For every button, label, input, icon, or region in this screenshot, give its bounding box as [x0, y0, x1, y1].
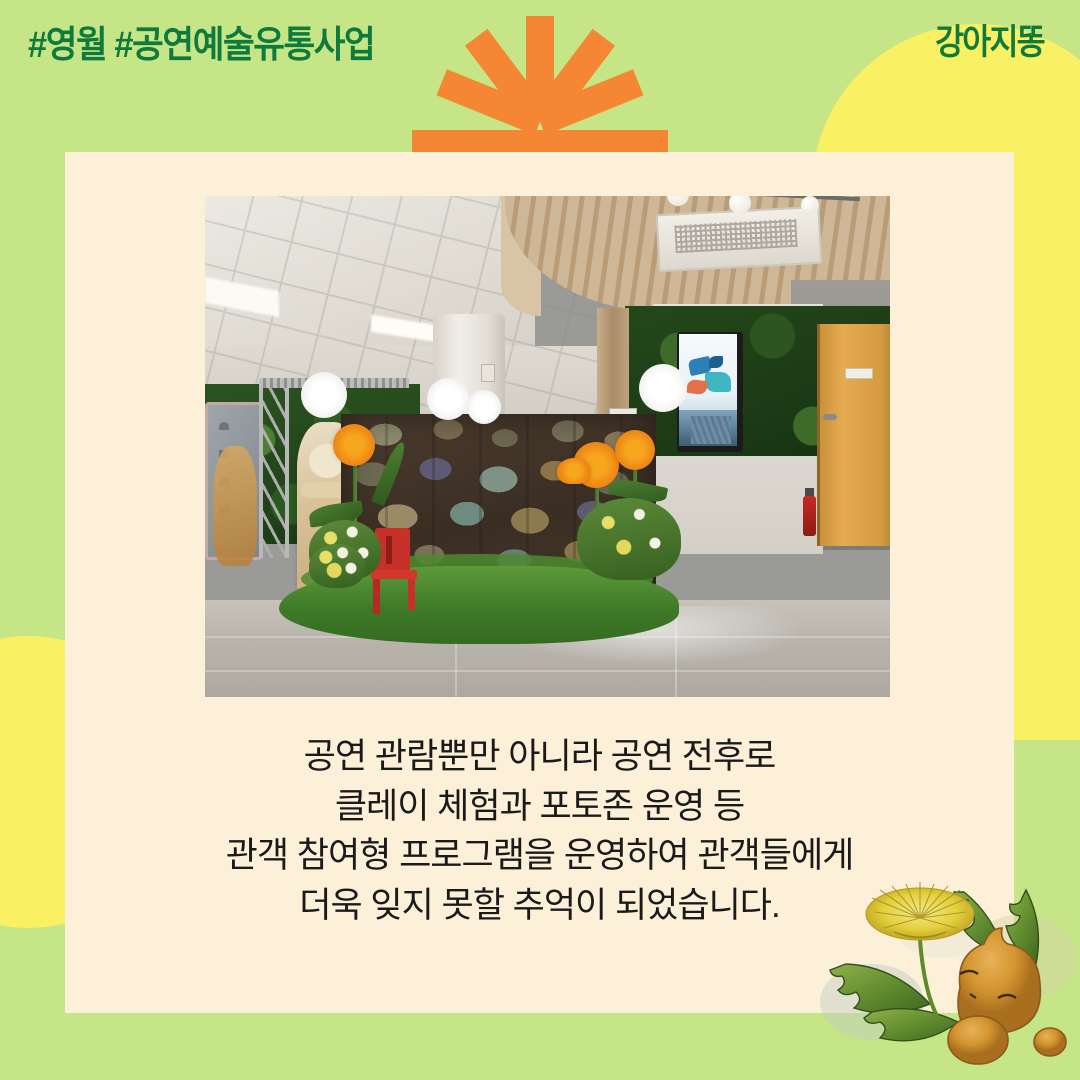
- dandelion-puff-4: [639, 364, 687, 412]
- floor-seam-2: [205, 670, 890, 672]
- dandelion-puff-1: [301, 372, 347, 418]
- caption-line-2: 클레이 체험과 포토존 운영 등: [65, 782, 1014, 832]
- pendant-bulb-3: [801, 196, 819, 214]
- brand-logo-text: 강아지똥: [935, 14, 1044, 65]
- marigold-flower-4: [557, 458, 591, 484]
- chair-leg-left: [373, 578, 380, 614]
- dandelion-puff-3: [467, 390, 501, 424]
- marigold-flower-1: [333, 424, 375, 466]
- page-hashtags: #영월 #공연예술유통사업: [28, 14, 374, 68]
- photo-image: [205, 196, 890, 697]
- signage-railway: [691, 416, 731, 444]
- signage-shape-4: [709, 356, 723, 368]
- wall-switch: [481, 364, 495, 382]
- marigold-flower-3: [615, 430, 655, 470]
- sleeping-character-with-dandelion-illustration: [812, 862, 1080, 1080]
- chair-leg-right: [408, 578, 415, 610]
- flower-bouquet-truss: [309, 544, 365, 588]
- chair-back-slot: [386, 536, 392, 564]
- signage-shape-2: [705, 372, 731, 392]
- digital-signage: [677, 332, 743, 452]
- lighting-truss: [259, 382, 289, 558]
- card-news-stage: #영월 #공연예술유통사업 강아지똥: [0, 0, 1080, 1080]
- fire-extinguisher: [803, 496, 816, 536]
- dandelion-puff-2: [427, 378, 469, 420]
- red-chair: [371, 570, 417, 579]
- signage-shape-3: [686, 379, 708, 396]
- door-nameplate: [845, 368, 873, 379]
- sunburst-icon: [390, 0, 690, 152]
- character-standee-far: [213, 446, 257, 566]
- flower-bouquet-right: [577, 498, 681, 580]
- caption-line-1: 공연 관람뿐만 아니라 공연 전후로: [65, 732, 1014, 782]
- orange-door: [817, 324, 890, 546]
- signage-screen: [679, 334, 737, 446]
- door-handle: [823, 414, 837, 420]
